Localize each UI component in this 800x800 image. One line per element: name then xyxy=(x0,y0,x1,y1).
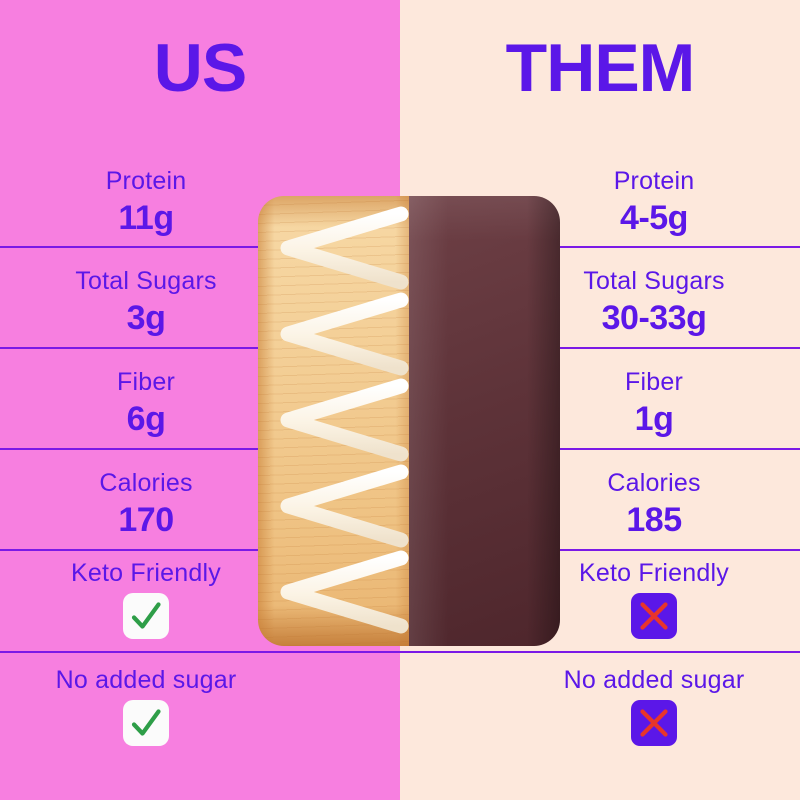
cross-icon xyxy=(631,700,677,746)
us-row-no-added-sugar: No added sugar xyxy=(0,665,292,751)
stat-label: Protein xyxy=(508,166,800,196)
them-row-no-added-sugar: No added sugar xyxy=(508,665,800,751)
stat-value: 3g xyxy=(0,298,292,338)
stat-label: Fiber xyxy=(0,367,292,397)
icing-drizzle xyxy=(258,196,560,646)
check-icon xyxy=(123,700,169,746)
stat-value: 170 xyxy=(0,500,292,540)
stat-label: Calories xyxy=(0,468,292,498)
row-divider xyxy=(0,651,800,653)
stat-label: Total Sugars xyxy=(0,266,292,296)
us-row-keto-friendly: Keto Friendly xyxy=(0,558,292,644)
check-icon xyxy=(123,593,169,639)
stat-label: No added sugar xyxy=(0,665,292,695)
comparison-infographic: US THEM Protein 11g Total Sugars 3g Fibe… xyxy=(0,0,800,800)
us-row-protein: Protein 11g xyxy=(0,166,292,238)
stat-label: Protein xyxy=(0,166,292,196)
them-header: THEM xyxy=(400,34,800,102)
stat-label: No added sugar xyxy=(508,665,800,695)
stat-value: 6g xyxy=(0,399,292,439)
us-header: US xyxy=(0,34,400,102)
stat-value: 11g xyxy=(0,198,292,238)
stat-label: Keto Friendly xyxy=(0,558,292,588)
us-row-fiber: Fiber 6g xyxy=(0,367,292,439)
us-row-calories: Calories 170 xyxy=(0,468,292,540)
us-row-total-sugars: Total Sugars 3g xyxy=(0,266,292,338)
cross-icon xyxy=(631,593,677,639)
